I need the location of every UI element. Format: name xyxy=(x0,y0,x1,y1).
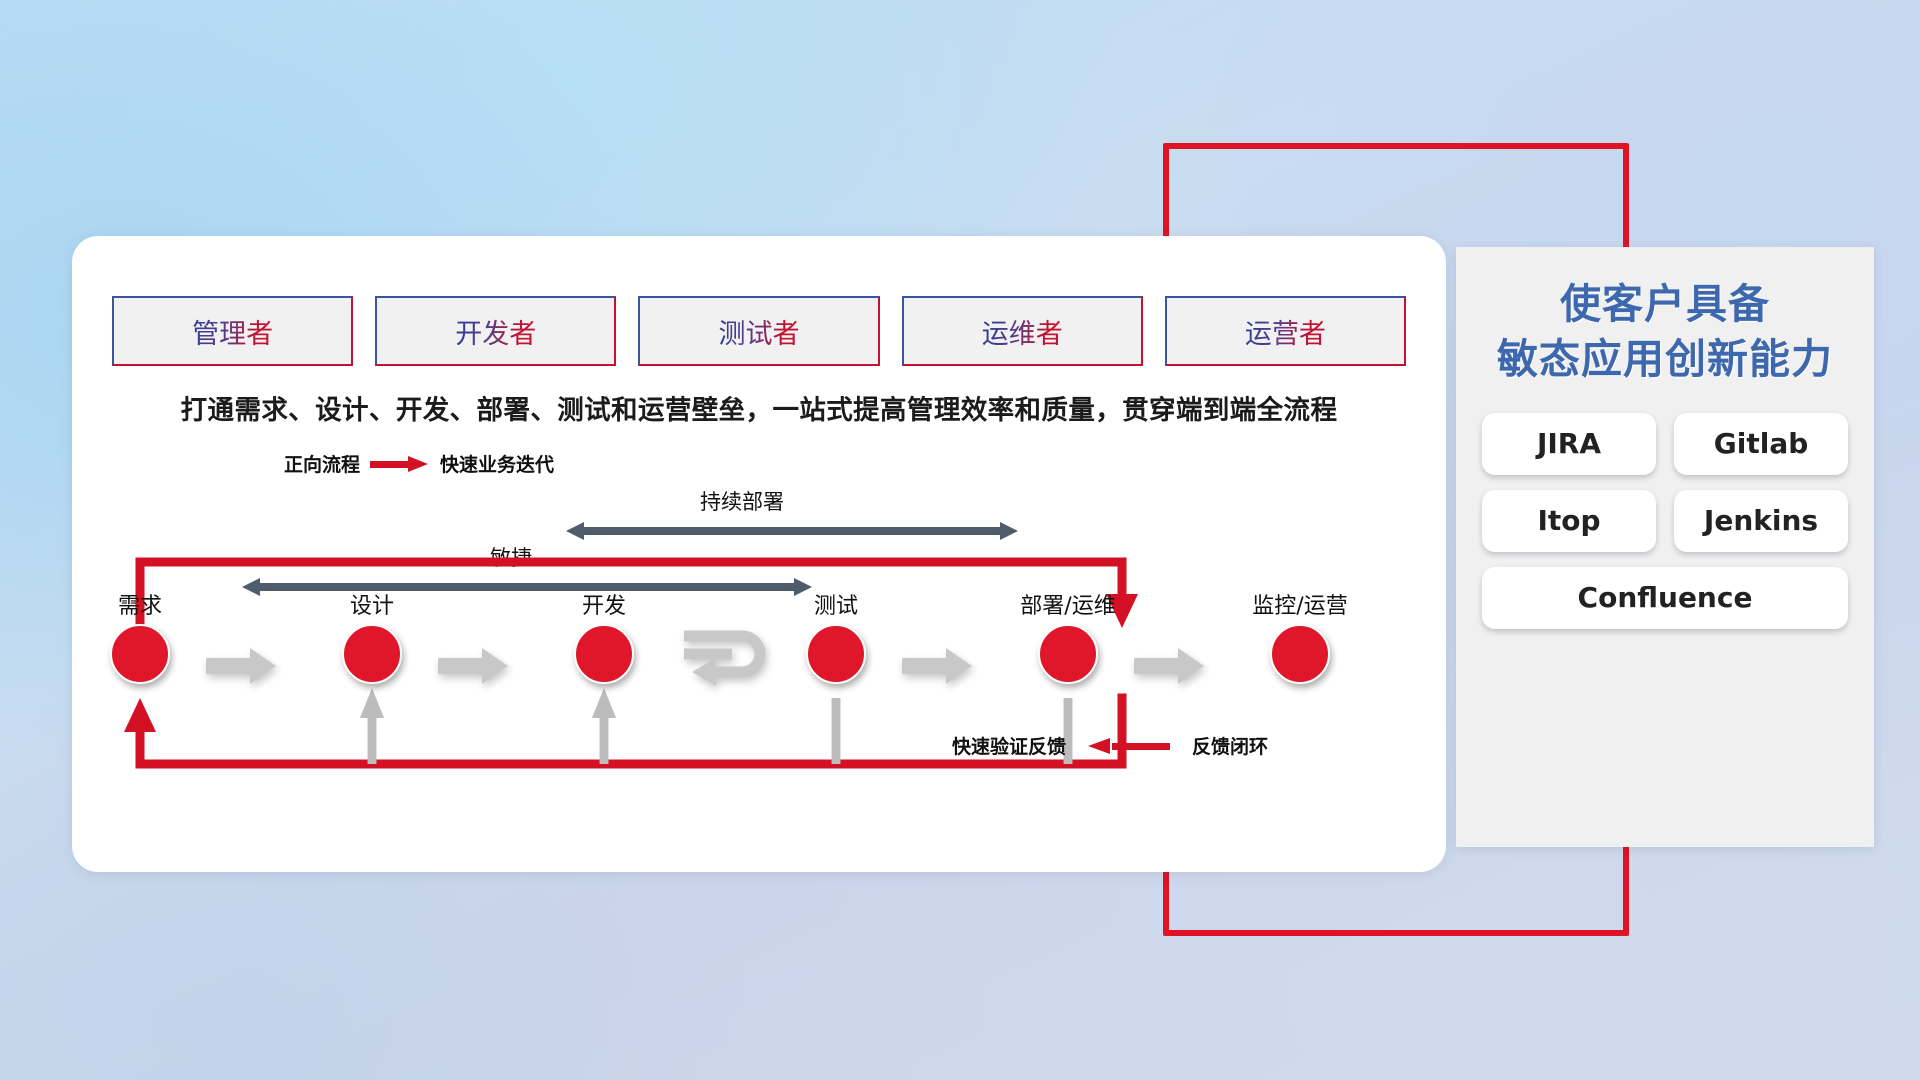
feedback-right-label: 反馈闭环 xyxy=(1192,732,1268,759)
stage-label: 设计 xyxy=(312,588,432,620)
stage-design[interactable]: 设计 xyxy=(312,588,432,684)
forward-flow-left-label: 正向流程 xyxy=(284,450,360,477)
role-label: 测试者 xyxy=(719,312,800,351)
chevron-right-icon xyxy=(902,648,972,684)
stage-dot xyxy=(1270,624,1330,684)
role-box-ops[interactable]: 运维者 xyxy=(902,296,1143,366)
arrow-right-icon xyxy=(370,458,430,470)
stage-requirements[interactable]: 需求 xyxy=(80,588,200,684)
chevron-right-icon xyxy=(1134,648,1204,684)
description-text: 打通需求、设计、开发、部署、测试和运营壁垒，一站式提高管理效率和质量，贯穿端到端… xyxy=(72,388,1446,427)
stage-deploy-ops[interactable]: 部署/运维 xyxy=(1008,588,1128,684)
stage-label: 监控/运营 xyxy=(1240,588,1360,620)
tool-chip-jenkins[interactable]: Jenkins xyxy=(1674,490,1848,552)
role-box-developer[interactable]: 开发者 xyxy=(375,296,616,366)
role-box-manager[interactable]: 管理者 xyxy=(112,296,353,366)
value-proposition-panel: 使客户具备 敏态应用创新能力 JIRA Gitlab Itop Jenkins … xyxy=(1456,247,1874,847)
arrow-bar xyxy=(582,527,1002,535)
role-box-row: 管理者 开发者 测试者 运维者 运营者 xyxy=(112,296,1406,366)
role-label: 开发者 xyxy=(455,312,536,351)
role-label: 运维者 xyxy=(982,312,1063,351)
continuous-deployment-arrow xyxy=(566,522,1018,540)
feedback-left-label: 快速验证反馈 xyxy=(952,732,1066,759)
chevron-right-icon xyxy=(438,648,508,684)
feedback-legend: 快速验证反馈 反馈闭环 xyxy=(952,732,1268,759)
arrow-head-right-icon xyxy=(1000,522,1018,540)
tool-chip-jira[interactable]: JIRA xyxy=(1482,413,1656,475)
stage-monitor-operations[interactable]: 监控/运营 xyxy=(1240,588,1360,684)
tool-chip-list: JIRA Gitlab Itop Jenkins Confluence xyxy=(1482,413,1848,629)
stage-dot xyxy=(1038,624,1098,684)
role-box-tester[interactable]: 测试者 xyxy=(638,296,879,366)
uturn-loop-icon xyxy=(680,630,776,692)
stage-label: 需求 xyxy=(80,588,200,620)
stage-dot xyxy=(342,624,402,684)
tool-chip-itop[interactable]: Itop xyxy=(1482,490,1656,552)
role-label: 运营者 xyxy=(1245,312,1326,351)
stage-dot xyxy=(574,624,634,684)
panel-title-line1: 使客户具备 xyxy=(1482,277,1848,332)
role-label: 管理者 xyxy=(192,312,273,351)
chevron-right-icon xyxy=(206,648,276,684)
stage-dot xyxy=(110,624,170,684)
continuous-deployment-label: 持续部署 xyxy=(700,486,784,516)
panel-title-line2: 敏态应用创新能力 xyxy=(1482,332,1848,387)
forward-flow-right-label: 快速业务迭代 xyxy=(440,450,554,477)
tool-chip-confluence[interactable]: Confluence xyxy=(1482,567,1848,629)
tool-chip-gitlab[interactable]: Gitlab xyxy=(1674,413,1848,475)
stage-label: 部署/运维 xyxy=(1008,588,1128,620)
agile-label: 敏捷 xyxy=(490,542,532,572)
stage-dot xyxy=(806,624,866,684)
stage-development[interactable]: 开发 xyxy=(544,588,664,684)
stage-label: 开发 xyxy=(544,588,664,620)
arrow-left-icon xyxy=(1088,740,1170,752)
forward-flow-legend: 正向流程 快速业务迭代 xyxy=(284,450,554,477)
role-box-operations[interactable]: 运营者 xyxy=(1165,296,1406,366)
stage-testing[interactable]: 测试 xyxy=(776,588,896,684)
stage-label: 测试 xyxy=(776,588,896,620)
main-diagram-card: 管理者 开发者 测试者 运维者 运营者 打通需求、设计、开发、部署、测试和运营壁… xyxy=(72,236,1446,872)
